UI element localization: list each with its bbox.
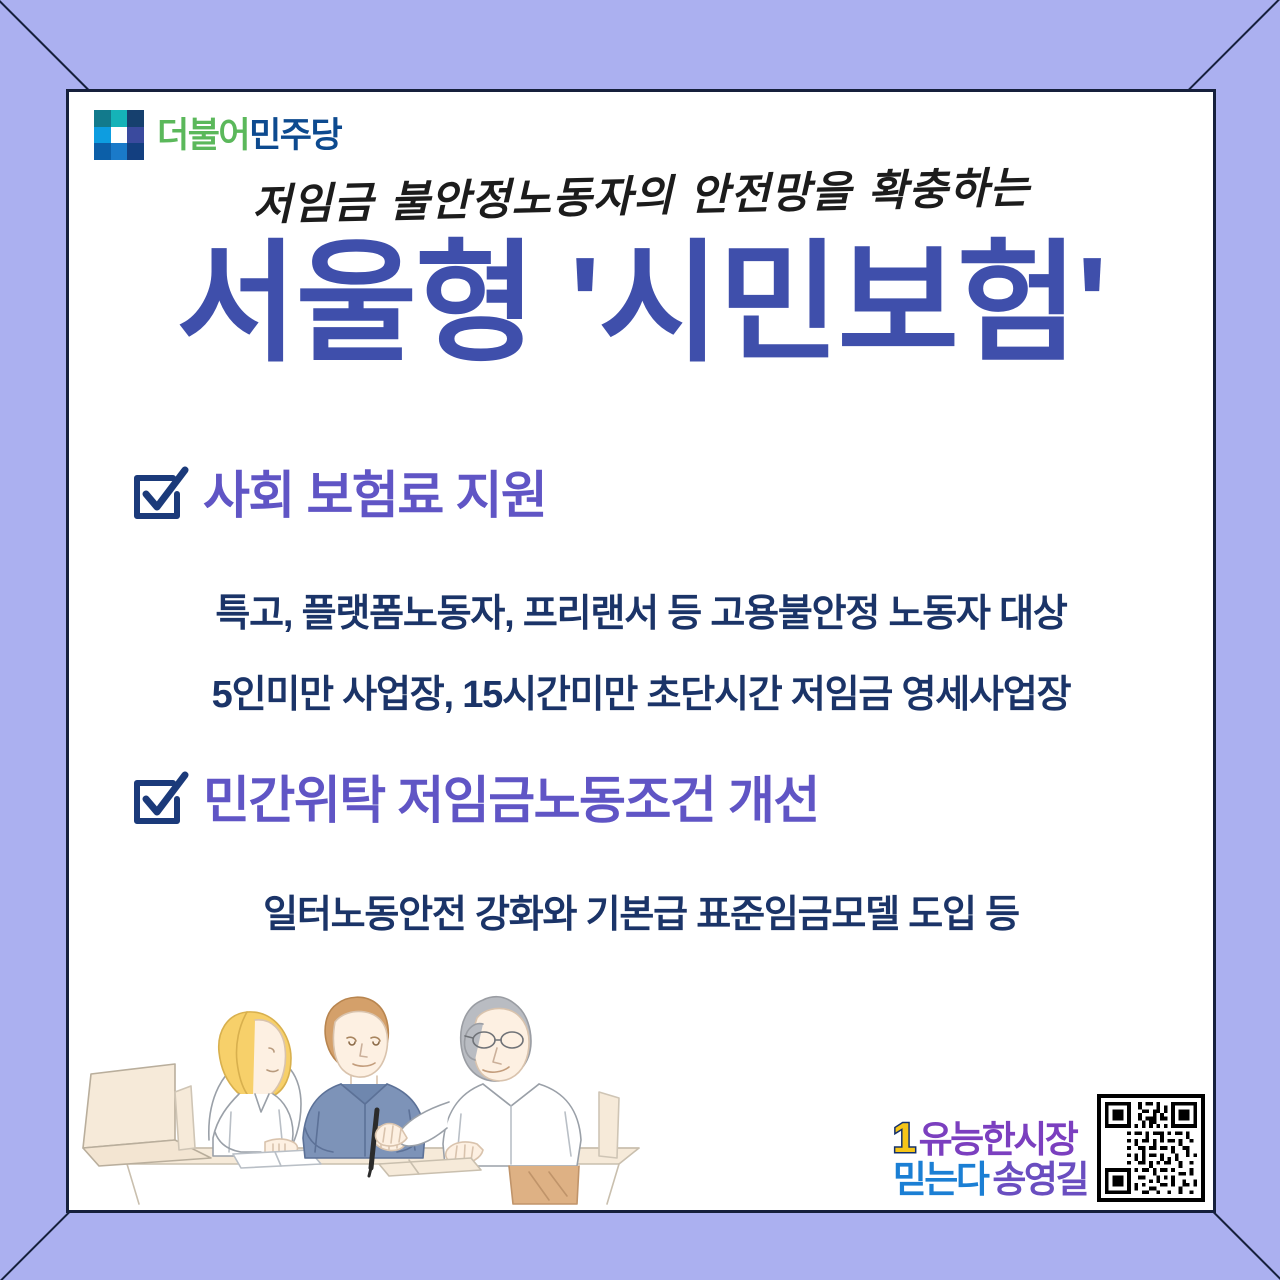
frame-miter-top-right [1187,0,1280,92]
policy-detail-1-2: 5인미만 사업장, 15시간미만 초단시간 저임금 영세사업장 [69,663,1213,718]
policy-heading-1: 사회 보험료 지원 [203,470,546,521]
campaign-slogan-line-2: 믿는다 송영길 [893,1161,1087,1198]
policy-heading-row-1: 사회 보험료 지원 [69,464,1213,526]
checkbox-checked-icon [127,769,189,831]
qr-code[interactable] [1097,1094,1205,1202]
policy-section-2: 민간위탁 저임금노동조건 개선 일터노동안전 강화와 기본급 표준임금모델 도입… [69,769,1213,938]
party-wordmark-green: 더불어 [157,116,249,155]
party-wordmark: 더불어민주당 [157,118,341,153]
three-people-meeting-illustration [79,952,659,1210]
party-wordmark-blue: 민주당 [249,116,341,155]
campaign-slogan-1: 유능한시장 [919,1121,1077,1158]
campaign-candidate-name: 송영길 [992,1161,1087,1198]
policy-heading-2: 민간위탁 저임금노동조건 개선 [203,775,819,826]
policy-heading-row-2: 민간위탁 저임금노동조건 개선 [69,769,1213,831]
campaign-slogan-2a: 믿는다 [893,1161,988,1198]
qr-code-matrix [1105,1102,1197,1194]
policy-section-1: 사회 보험료 지원 특고, 플랫폼노동자, 프리랜서 등 고용불안정 노동자 대… [69,464,1213,718]
campaign-slogan-block: 1 유능한시장 믿는다 송영길 [893,1094,1205,1202]
party-logo: 더불어민주당 [93,109,341,161]
policy-detail-1-1: 특고, 플랫폼노동자, 프리랜서 등 고용불안정 노동자 대상 [69,582,1213,637]
policy-detail-2-1: 일터노동안전 강화와 기본급 표준임금모델 도입 등 [69,883,1213,938]
poster-card: 더불어민주당 저임금 불안정노동자의 안전망을 확충하는 서울형 '시민보험' … [66,89,1216,1213]
campaign-number: 1 [893,1117,914,1159]
frame-miter-top-left [0,0,92,93]
campaign-slogan-line-1: 1 유능한시장 [893,1117,1087,1159]
campaign-slogan-text: 1 유능한시장 믿는다 송영길 [893,1117,1087,1202]
poster-canvas: 더불어민주당 저임금 불안정노동자의 안전망을 확충하는 서울형 '시민보험' … [0,0,1280,1280]
checkbox-checked-icon [127,464,189,526]
poster-subtitle: 저임금 불안정노동자의 안전망을 확충하는 [68,149,1213,237]
party-grid-logo-icon [93,109,145,161]
poster-title: 서울형 '시민보험' [69,235,1213,374]
